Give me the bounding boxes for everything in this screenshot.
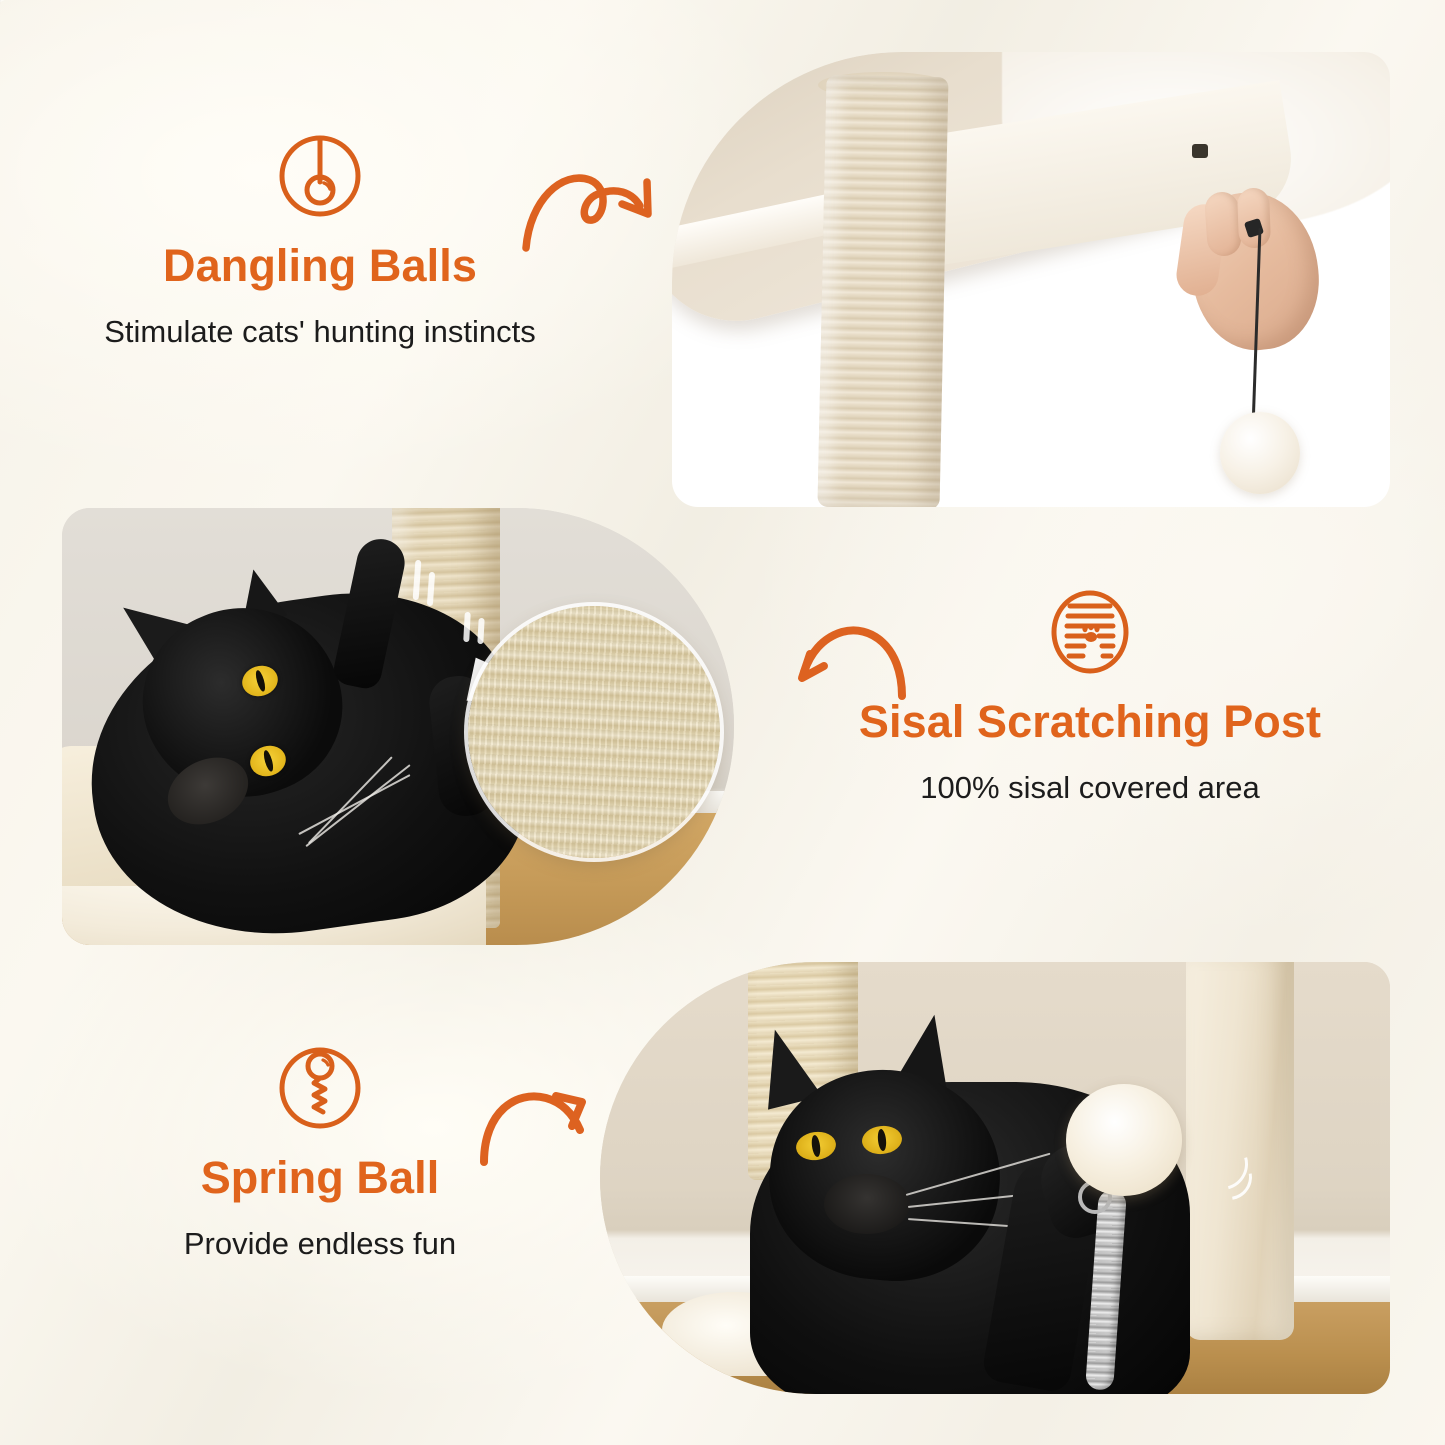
feature-subtitle: Stimulate cats' hunting instincts — [40, 313, 600, 350]
sisal-post — [817, 75, 948, 507]
photo-spring-ball-cat — [600, 962, 1390, 1394]
pom-pom-ball — [1220, 412, 1300, 494]
feature-subtitle: Provide endless fun — [60, 1225, 580, 1262]
sisal-post-paw-icon — [1042, 584, 1138, 680]
feature-subtitle: 100% sisal covered area — [830, 769, 1350, 806]
curved-arrow-right-icon — [470, 1072, 600, 1168]
photo-scratching-cat — [62, 508, 734, 945]
cat-muzzle — [824, 1174, 910, 1234]
pom-pom-ball — [1066, 1084, 1182, 1196]
spring-ball-icon — [272, 1040, 368, 1136]
ball-attachment-point — [1192, 144, 1208, 158]
dangling-ball-icon — [272, 128, 368, 224]
curly-arrow-right-icon — [516, 152, 686, 257]
photo-dangling-ball — [672, 52, 1390, 507]
sisal-texture-closeup-inset — [468, 606, 720, 858]
curved-arrow-left-icon — [786, 612, 916, 708]
finger — [1237, 187, 1271, 248]
finger — [1204, 191, 1242, 257]
